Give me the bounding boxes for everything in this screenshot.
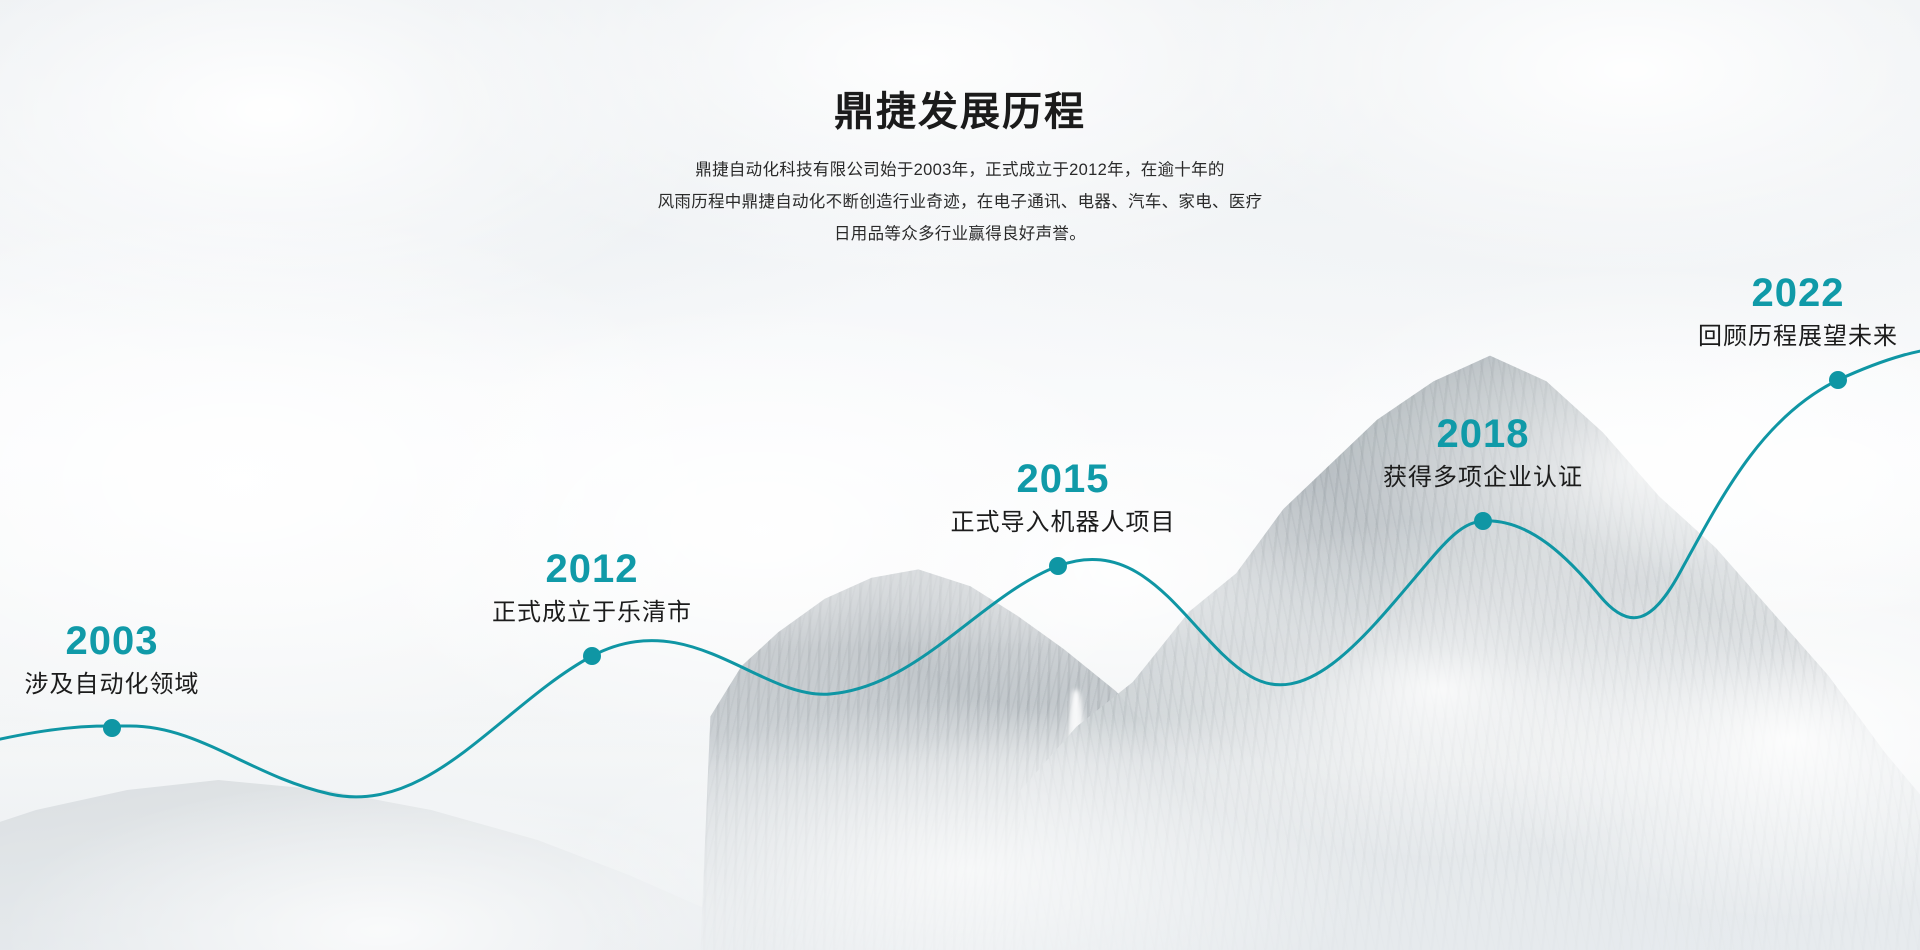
milestone-description: 回顾历程展望未来 (1548, 316, 1920, 351)
intro-paragraph: 鼎捷自动化科技有限公司始于2003年，正式成立于2012年，在逾十年的 风雨历程… (0, 154, 1920, 251)
milestone-description: 获得多项企业认证 (1233, 457, 1733, 492)
milestone-2012[interactable]: 2012正式成立于乐清市 (342, 548, 842, 627)
intro-line-2: 风雨历程中鼎捷自动化不断创造行业奇迹，在电子通讯、电器、汽车、家电、医疗 (0, 186, 1920, 218)
header-block: 鼎捷发展历程 鼎捷自动化科技有限公司始于2003年，正式成立于2012年，在逾十… (0, 88, 1920, 251)
page-title: 鼎捷发展历程 (0, 88, 1920, 136)
milestone-2022[interactable]: 2022回顾历程展望未来 (1548, 272, 1920, 351)
milestone-2018[interactable]: 2018获得多项企业认证 (1233, 413, 1733, 492)
milestone-dot-2015[interactable] (1049, 557, 1067, 575)
milestone-dot-2003[interactable] (103, 719, 121, 737)
milestone-year: 2022 (1548, 272, 1920, 314)
milestone-year: 2018 (1233, 413, 1733, 455)
milestone-year: 2003 (0, 620, 362, 662)
milestone-dot-2018[interactable] (1474, 512, 1492, 530)
milestone-dot-2012[interactable] (583, 647, 601, 665)
milestone-description: 涉及自动化领域 (0, 664, 362, 699)
milestone-2003[interactable]: 2003涉及自动化领域 (0, 620, 362, 699)
milestone-dot-2022[interactable] (1829, 371, 1847, 389)
milestone-description: 正式导入机器人项目 (813, 502, 1313, 537)
milestone-year: 2012 (342, 548, 842, 590)
timeline-infographic: 鼎捷发展历程 鼎捷自动化科技有限公司始于2003年，正式成立于2012年，在逾十… (0, 0, 1920, 950)
intro-line-3: 日用品等众多行业赢得良好声誉。 (0, 218, 1920, 250)
milestone-description: 正式成立于乐清市 (342, 592, 842, 627)
intro-line-1: 鼎捷自动化科技有限公司始于2003年，正式成立于2012年，在逾十年的 (0, 154, 1920, 186)
